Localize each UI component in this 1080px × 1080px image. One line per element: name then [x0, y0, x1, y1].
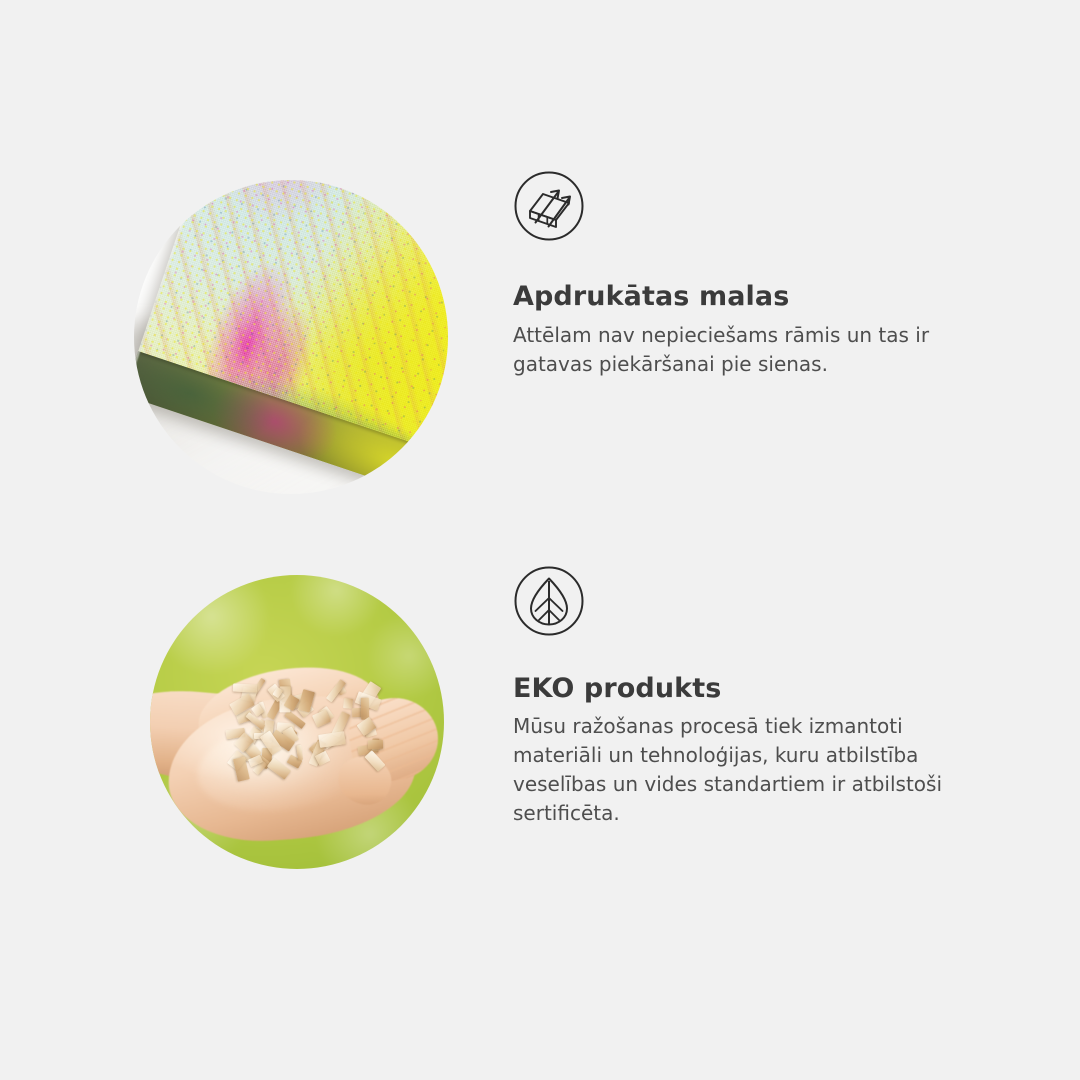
wood-chip [364, 750, 385, 771]
wood-chip-pile [226, 675, 391, 781]
wood-chip [232, 684, 256, 693]
wood-chips-in-hands-photo [150, 575, 444, 869]
wood-chip [343, 698, 353, 709]
feature-description: Mūsu ražošanas procesā tiek izmantoti ma… [513, 712, 942, 828]
feature-block-printed-edges: Apdrukātas malas Attēlam nav nepieciešam… [0, 170, 929, 494]
printed-edges-icon [513, 170, 585, 242]
feature-block-eco-product: EKO produkts Mūsu ražošanas procesā tiek… [0, 565, 942, 869]
leaf-icon [513, 565, 585, 637]
feature-text-printed-edges: Apdrukātas malas Attēlam nav nepieciešam… [513, 170, 929, 379]
feature-page: Apdrukātas malas Attēlam nav nepieciešam… [0, 0, 1080, 1080]
canvas-corner-photo [134, 180, 448, 494]
feature-description: Attēlam nav nepieciešams rāmis un tas ir… [513, 321, 929, 379]
feature-text-eco-product: EKO produkts Mūsu ražošanas procesā tiek… [513, 565, 942, 828]
wood-chip [368, 739, 384, 748]
feature-title: EKO produkts [513, 673, 942, 704]
wood-chip [318, 731, 345, 747]
eco-photo-inner [150, 575, 444, 869]
feature-title: Apdrukātas malas [513, 281, 929, 312]
